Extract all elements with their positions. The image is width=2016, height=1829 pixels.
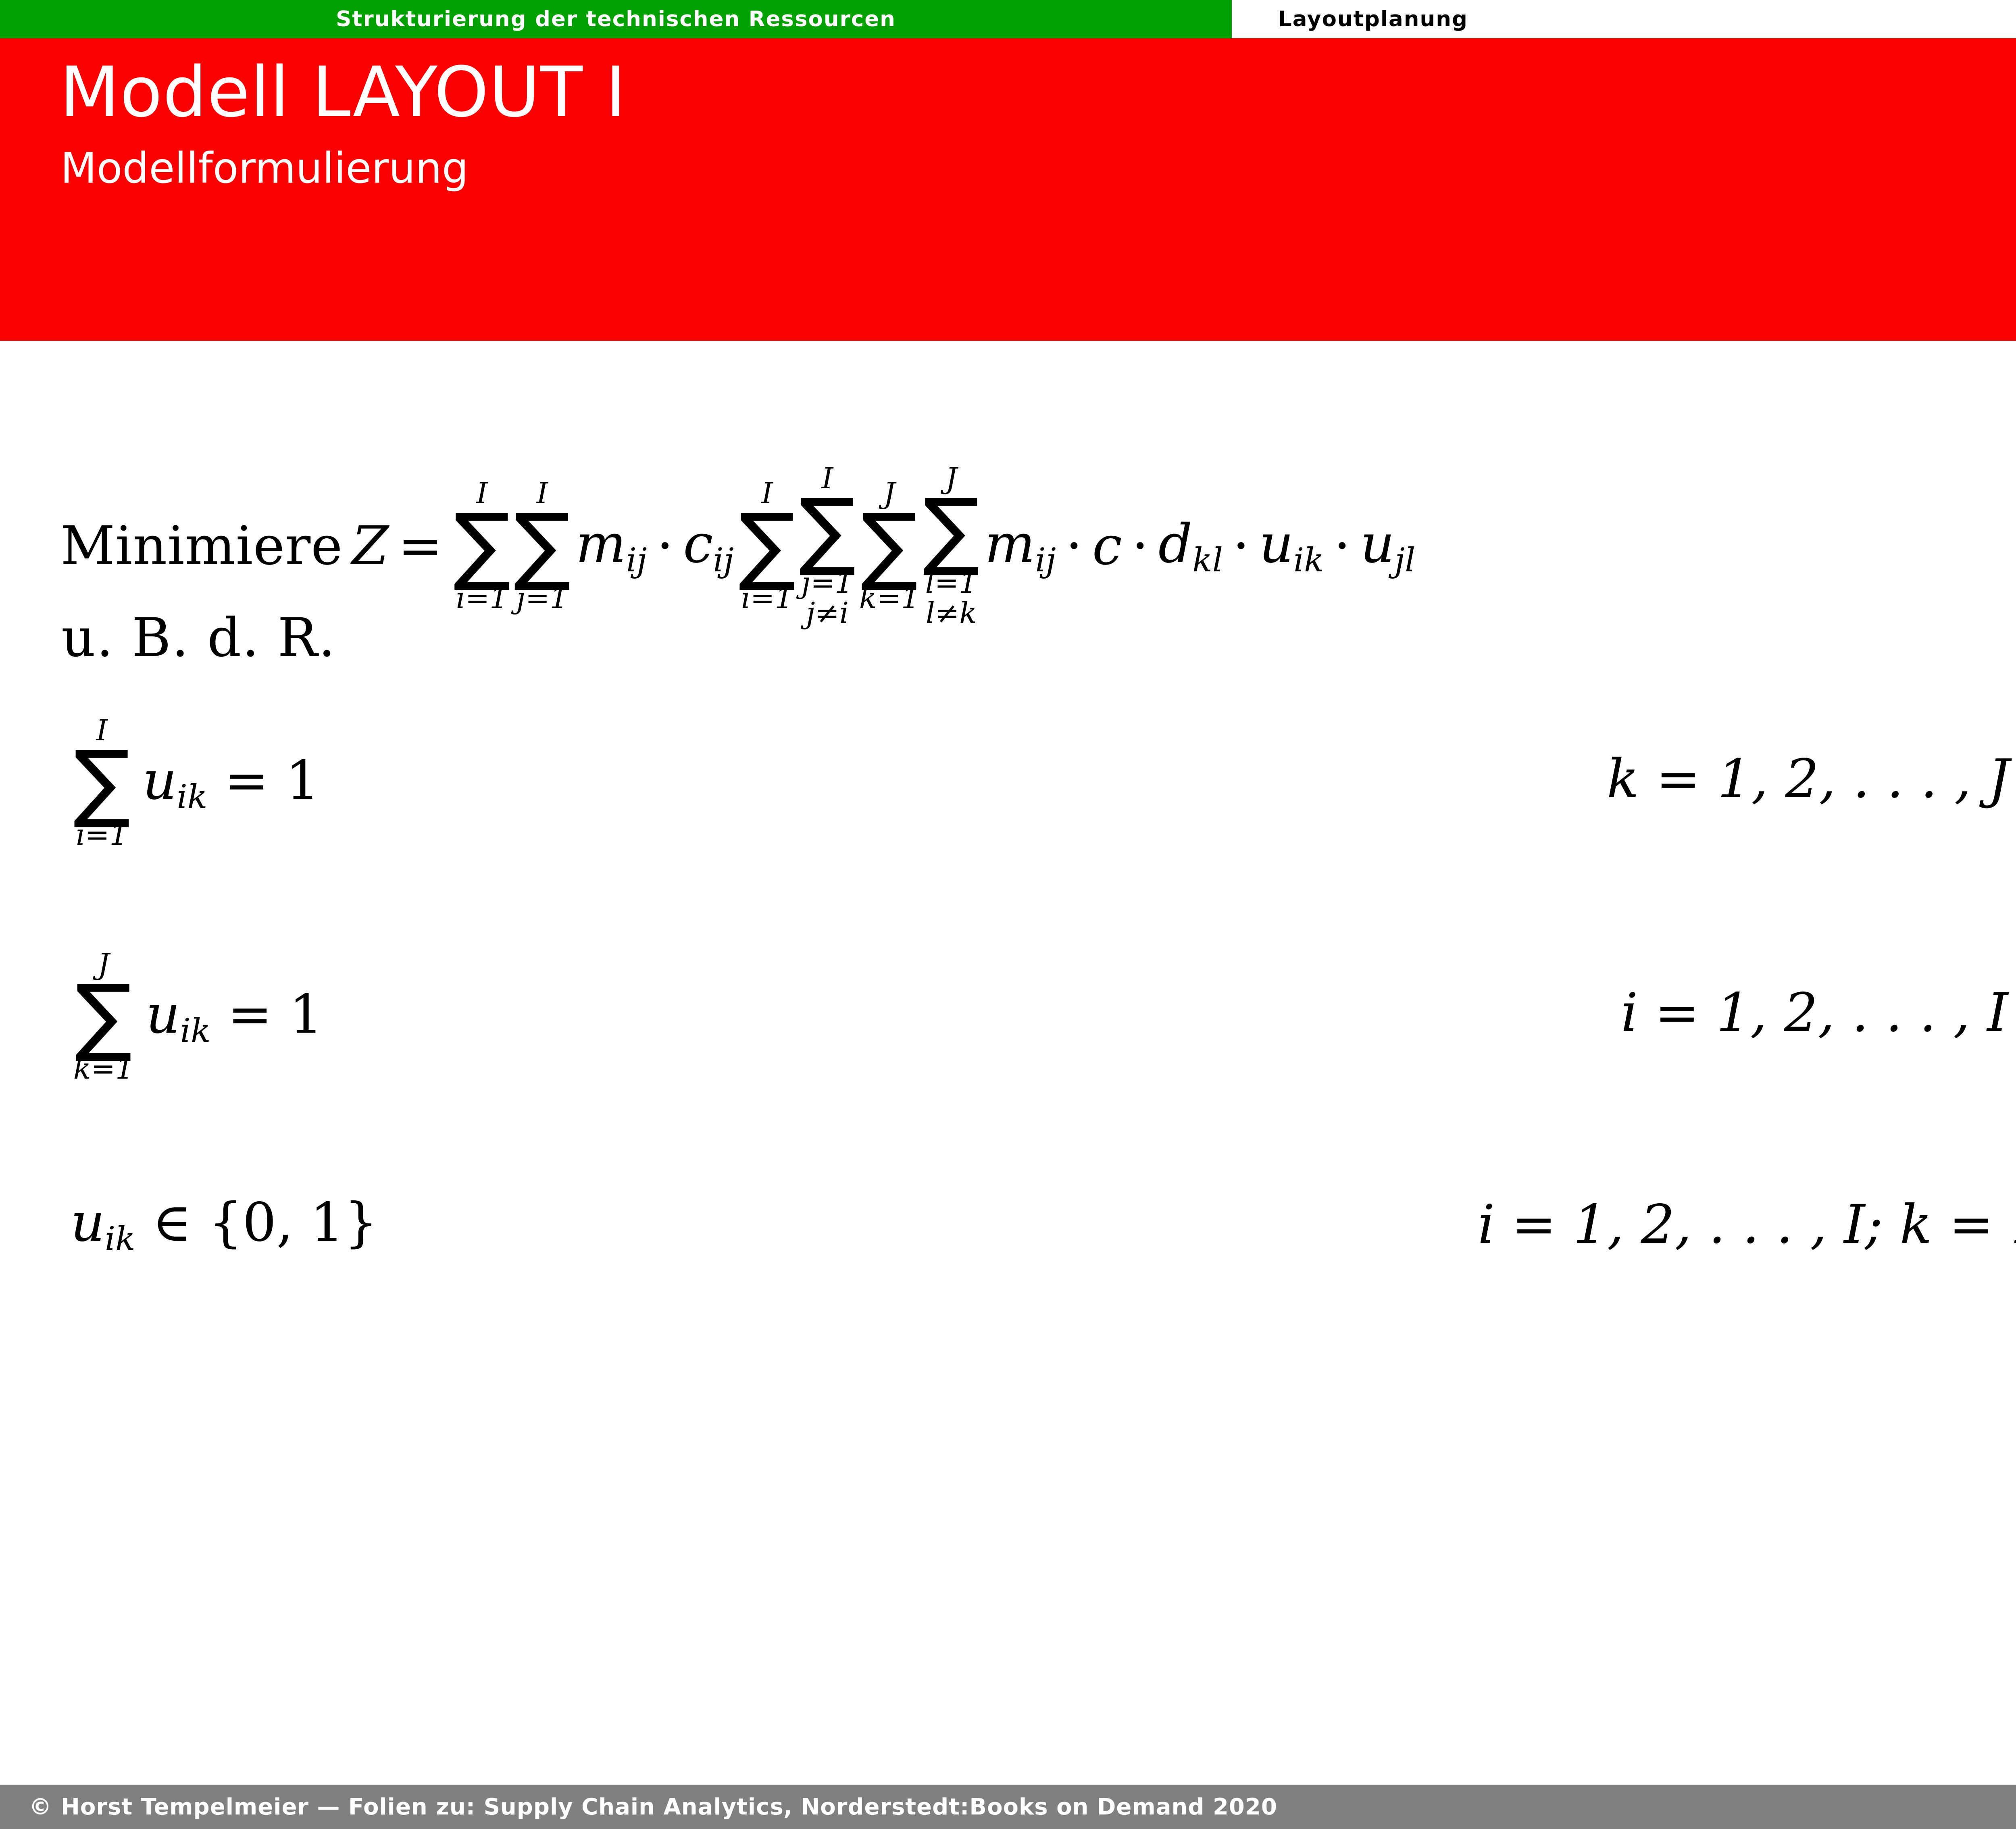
sigma-glyph: ∑ [73,747,131,817]
sigma-glyph: ∑ [923,495,980,565]
dot-operator: · [650,515,680,577]
tail-term-u-ik: uik [1256,513,1327,579]
tail-term-m: mij [981,513,1059,579]
sum-i-2: I ∑ i=1 [739,479,796,613]
objective-function: MinimiereZ= I ∑ i=1 I ∑ j=1 mij · cij I … [60,464,1418,628]
sigma-glyph: ∑ [861,510,918,579]
dot-operator: · [1059,515,1089,577]
objective-lead: MinimiereZ= [60,515,452,577]
constraint-3-condition: i = 1, 2, . . . , I; k = 1, 2, . . . , J [1478,1194,2016,1256]
sum-j-2: I ∑ j=1 j≠i [799,464,856,628]
constraint-2-expression: uik = 1 [135,983,323,1050]
page-subtitle: Modellformulierung [60,147,469,189]
constraint-1-condition: k = 1, 2, . . . , J [1607,748,2010,810]
term-c-ij: cij [680,513,737,579]
sum-i-constraint1: I ∑ i=1 [73,716,131,850]
tail-term-d: dkl [1155,513,1226,579]
copyright-icon: © [29,1794,61,1820]
term-m-ij: mij [573,513,650,579]
nav-section-layoutplanung[interactable]: Layoutplanung [1232,0,2016,38]
section-navigation-bar: Strukturierung der technischen Ressource… [0,0,2016,38]
slide-content: MinimiereZ= I ∑ i=1 I ∑ j=1 mij · cij I … [0,341,2016,1752]
dot-operator: · [1226,515,1256,577]
subject-to-label: u. B. d. R. [61,607,336,669]
constraint-1-expression: uik = 1 [132,750,320,816]
sigma-glyph: ∑ [75,981,132,1050]
constraint-3-expression: uik ∈ {0, 1} [71,1192,378,1258]
slide-footer: ©Horst Tempelmeier — Folien zu: Supply C… [0,1785,2016,1829]
sum-i-1: I ∑ i=1 [454,479,511,613]
sum-l-1: J ∑ l=1 l≠k [923,464,980,628]
tail-term-c: c [1089,515,1125,577]
sum-j-1: I ∑ j=1 [514,479,571,613]
constraint-2: J ∑ k=1 uik = 1 [72,950,323,1084]
sum-k-1: J ∑ k=1 [859,479,920,613]
slide-title-banner: Modell LAYOUT I Modellformulierung [0,38,2016,341]
sum-k-constraint2: J ∑ k=1 [73,950,134,1084]
dot-operator: · [1125,515,1155,577]
sigma-glyph: ∑ [454,510,511,579]
constraint-3: uik ∈ {0, 1} [71,1192,378,1258]
footer-credit: ©Horst Tempelmeier — Folien zu: Supply C… [0,1794,1277,1820]
nav-section-strukturierung[interactable]: Strukturierung der technischen Ressource… [0,0,1232,38]
constraint-1: I ∑ i=1 uik = 1 [72,716,320,850]
sigma-glyph: ∑ [739,510,796,579]
dot-operator: · [1327,515,1357,577]
sigma-glyph: ∑ [799,495,856,565]
tail-term-u-jl: ujl [1357,513,1419,579]
page-title: Modell LAYOUT I [60,58,626,127]
sigma-glyph: ∑ [514,510,571,579]
constraint-2-condition: i = 1, 2, . . . , I [1621,982,2008,1044]
